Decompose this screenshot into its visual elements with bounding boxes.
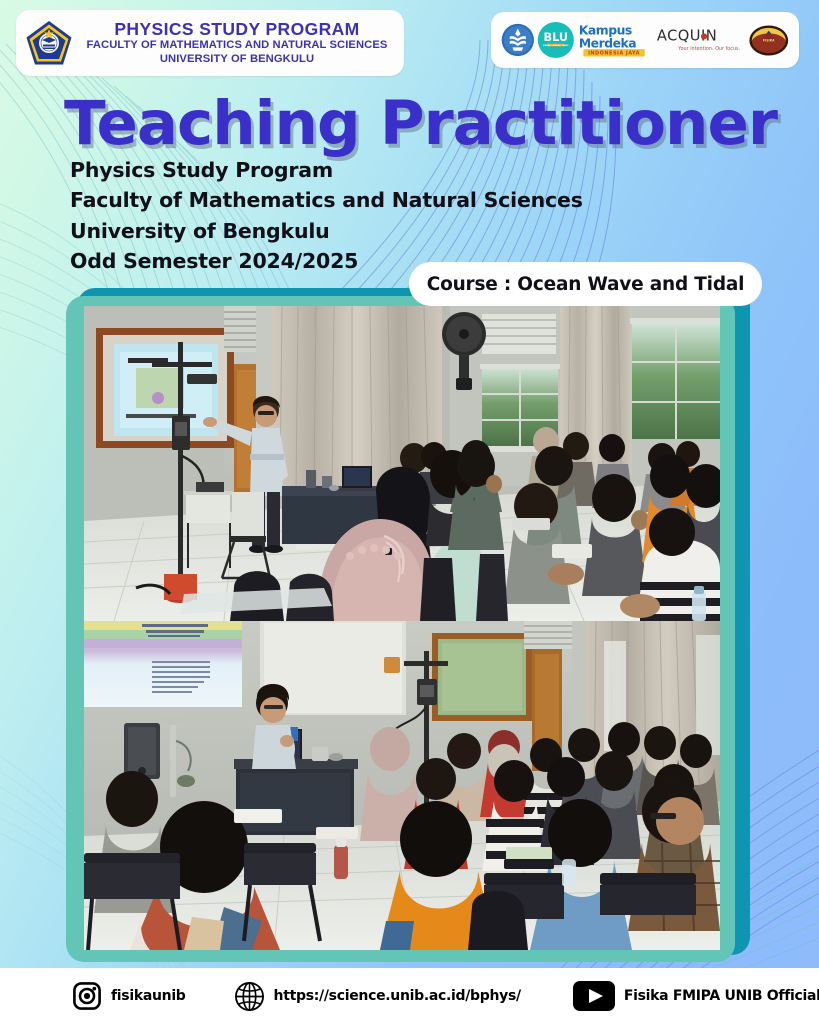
svg-text:INDONESIA JAYA: INDONESIA JAYA bbox=[588, 51, 640, 57]
svg-text:ACQUIN: ACQUIN bbox=[657, 27, 717, 44]
footer-item-instagram[interactable]: fisikaunib bbox=[72, 981, 186, 1011]
footer-label-youtube: Fisika FMIPA UNIB Official bbox=[624, 988, 819, 1004]
photo-lecture-presentation bbox=[84, 306, 720, 621]
footer-item-website[interactable]: https://science.unib.ac.id/bphys/ bbox=[234, 981, 521, 1012]
header-line-program: PHYSICS STUDY PROGRAM bbox=[76, 20, 398, 39]
kemdikbud-logo-icon bbox=[501, 23, 535, 57]
photo-lecture-desk bbox=[84, 621, 720, 950]
subtitle-faculty: Faculty of Mathematics and Natural Scien… bbox=[70, 185, 583, 215]
svg-text:FISIKA: FISIKA bbox=[763, 38, 775, 42]
blu-logo-icon: BLU BADAN LAYANAN UMUM bbox=[537, 21, 575, 59]
footer-social-bar: fisikaunib https://science.unib.ac.id/bp… bbox=[0, 968, 819, 1024]
svg-text:BADAN LAYANAN UMUM: BADAN LAYANAN UMUM bbox=[543, 45, 568, 47]
unib-seal-icon bbox=[24, 18, 74, 68]
kampus-merdeka-logo-icon: Kampus Merdeka INDONESIA JAYA bbox=[577, 20, 650, 60]
poster-subtitle-block: Physics Study Program Faculty of Mathema… bbox=[70, 155, 583, 276]
footer-label-instagram: fisikaunib bbox=[111, 988, 186, 1004]
course-name-badge: Course : Ocean Wave and Tidal bbox=[409, 262, 762, 306]
svg-text:Your intention. Our focus.: Your intention. Our focus. bbox=[678, 46, 741, 52]
footer-item-youtube[interactable]: Fisika FMIPA UNIB Official bbox=[573, 981, 819, 1011]
instagram-icon[interactable] bbox=[72, 981, 102, 1011]
photo-gallery bbox=[84, 306, 720, 950]
svg-text:BLU: BLU bbox=[543, 31, 568, 44]
header-institution-pill: PHYSICS STUDY PROGRAM FACULTY OF MATHEMA… bbox=[16, 10, 404, 76]
header-partner-logos-pill: BLU BADAN LAYANAN UMUM Kampus Merdeka IN… bbox=[491, 12, 799, 68]
fisika-seal-icon: FISIKA bbox=[749, 25, 789, 56]
svg-text:Kampus: Kampus bbox=[579, 24, 632, 38]
header-line-faculty: FACULTY OF MATHEMATICS AND NATURAL SCIEN… bbox=[76, 38, 398, 52]
course-name-label: Course : Ocean Wave and Tidal bbox=[427, 274, 745, 295]
acquin-logo-icon: ACQUIN Your intention. Our focus. bbox=[656, 22, 745, 58]
subtitle-university: University of Bengkulu bbox=[70, 216, 583, 246]
poster-main-title: Teaching Practitioner bbox=[64, 88, 777, 159]
subtitle-program: Physics Study Program bbox=[70, 155, 583, 185]
poster-canvas: PHYSICS STUDY PROGRAM FACULTY OF MATHEMA… bbox=[0, 0, 819, 1024]
header-line-university: UNIVERSITY OF BENGKULU bbox=[76, 52, 398, 66]
globe-icon[interactable] bbox=[234, 981, 265, 1012]
youtube-icon[interactable] bbox=[573, 981, 615, 1011]
header-institution-text: PHYSICS STUDY PROGRAM FACULTY OF MATHEMA… bbox=[76, 20, 404, 67]
footer-label-website: https://science.unib.ac.id/bphys/ bbox=[274, 988, 521, 1004]
svg-text:Merdeka: Merdeka bbox=[579, 36, 636, 50]
